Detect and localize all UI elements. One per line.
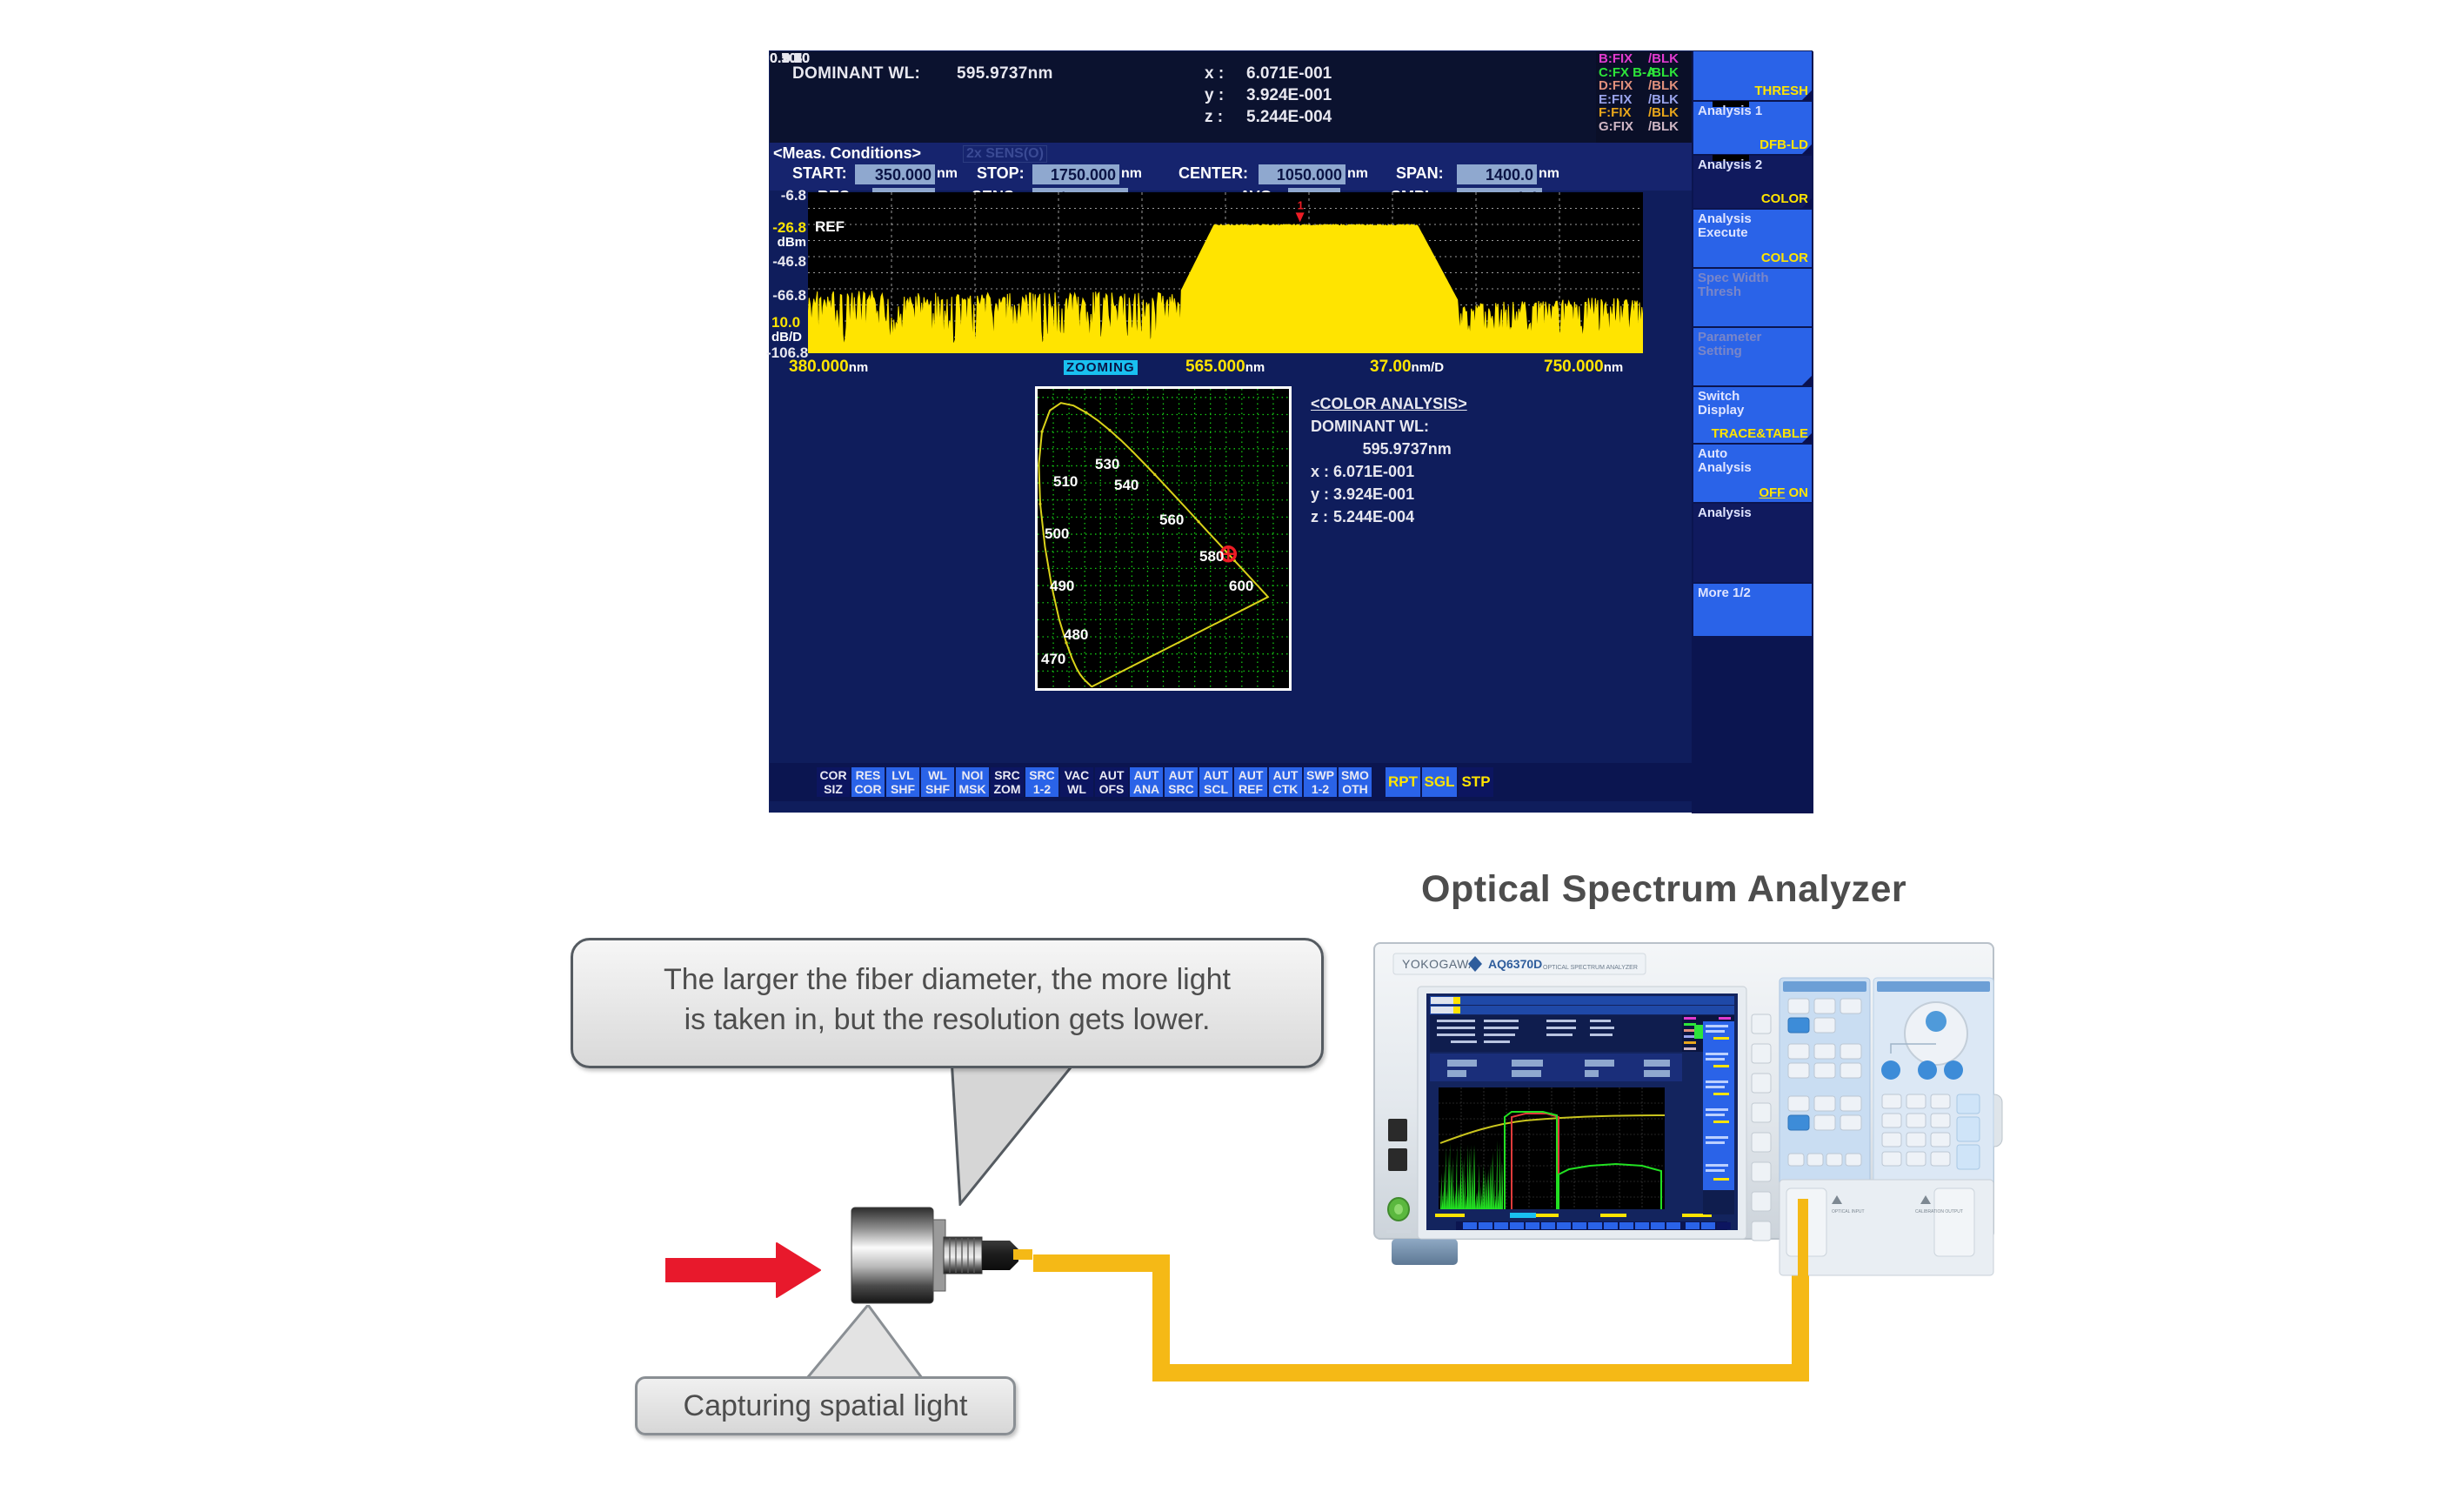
softkey-value: TRACE&TABLE: [1712, 426, 1808, 441]
span-label: SPAN:: [1396, 164, 1444, 183]
wavelength-label: 480: [1064, 626, 1088, 643]
softkey-thresh[interactable]: THRESH: [1693, 51, 1812, 100]
softkey-label: AutoAnalysis: [1698, 447, 1752, 475]
spectral-locus: [1038, 403, 1268, 686]
fn-key-line1: SWP: [1304, 768, 1337, 782]
status-key-rpt[interactable]: RPT: [1386, 767, 1420, 797]
y-axis-label-0: -6.8: [770, 187, 806, 204]
softkey-auto-analysis[interactable]: AutoAnalysisOFF ON: [1693, 445, 1812, 502]
fn-key-src1-2[interactable]: SRC1-2: [1025, 767, 1058, 797]
header-y-key: y :: [1205, 86, 1224, 105]
x-div-value: 37.00: [1370, 358, 1412, 376]
osa-display-area: DOMINANT WL: 595.9737nm x : 6.071E-001 y…: [770, 51, 1692, 813]
svg-text:AQ6370D: AQ6370D: [1488, 957, 1542, 971]
status-key-stp[interactable]: STP: [1459, 767, 1493, 797]
fn-key-line2: WL: [1060, 782, 1093, 796]
center-value[interactable]: 1050.000: [1259, 164, 1346, 184]
span-unit: nm: [1539, 166, 1559, 182]
softkey-value: COLOR: [1761, 251, 1808, 265]
collimator-assembly: [848, 1201, 1057, 1314]
header-dominant-wl-value: 595.9737nm: [957, 64, 1053, 84]
softkey-corner: [1802, 376, 1812, 385]
peak-marker: 1: [1296, 198, 1305, 222]
ca-y-value: 3.924E-001: [1333, 483, 1414, 505]
color-analysis-row-x: x :6.071E-001: [1311, 460, 1467, 483]
stop-value[interactable]: 1750.000: [1032, 164, 1119, 184]
fn-key-line1: AUT: [1269, 768, 1302, 782]
fn-key-line2: SHF: [921, 782, 954, 796]
fn-key-autref[interactable]: AUTREF: [1234, 767, 1267, 797]
x-axis: 380.000nm ZOOMING 565.000nm 37.00nm/D 75…: [770, 358, 1692, 382]
softkey-parameter-setting[interactable]: ParameterSetting: [1693, 328, 1812, 385]
softkey-spec-width-thresh[interactable]: Spec WidthThresh: [1693, 269, 1812, 326]
softkey-corner: [1802, 198, 1812, 208]
trace-blank-state: /BLK: [1648, 79, 1679, 93]
trace-blank-state: /BLK: [1648, 52, 1679, 66]
osa-header: DOMINANT WL: 595.9737nm x : 6.071E-001 y…: [770, 51, 1692, 143]
fn-key-line2: REF: [1234, 782, 1267, 796]
y-axis-label-3: -66.8: [770, 287, 806, 304]
osa-screen-capture: DOMINANT WL: 595.9737nm x : 6.071E-001 y…: [769, 50, 1813, 813]
fn-key-line1: COR: [817, 768, 850, 782]
header-x-key: x :: [1205, 64, 1224, 84]
header-x-value: 6.071E-001: [1246, 64, 1332, 84]
fn-key-line1: AUT: [1165, 768, 1198, 782]
y-axis-label-2: -46.8: [770, 253, 806, 271]
fn-key-rescor[interactable]: RESCOR: [851, 767, 885, 797]
start-label: START:: [792, 164, 847, 183]
wavelength-label: 500: [1045, 525, 1069, 542]
header-z-key: z :: [1205, 108, 1223, 127]
fn-key-line2: 1-2: [1304, 782, 1337, 796]
zooming-indicator: ZOOMING: [1064, 360, 1138, 375]
bubble-line-2: is taken in, but the resolution gets low…: [573, 1000, 1321, 1040]
softkey-analysis-1[interactable]: Analysis 1DFB-LD: [1693, 102, 1812, 154]
trace-name: B:FIX: [1599, 52, 1633, 66]
y-axis-unit: dBm: [770, 235, 806, 250]
trace-name: C:FX B-A: [1599, 66, 1656, 80]
fn-key-autctk[interactable]: AUTCTK: [1269, 767, 1302, 797]
start-value[interactable]: 350.000: [855, 164, 935, 184]
fn-key-smooth[interactable]: SMOOTH: [1339, 767, 1372, 797]
x-stop-unit: nm: [1604, 360, 1624, 375]
wavelength-label: 470: [1041, 651, 1065, 667]
fn-key-line1: LVL: [886, 768, 919, 782]
fn-key-line2: 1-2: [1025, 782, 1058, 796]
fn-key-autofs[interactable]: AUTOFS: [1095, 767, 1128, 797]
fn-key-line2: COR: [851, 782, 885, 796]
fn-key-noimsk[interactable]: NOIMSK: [956, 767, 989, 797]
fn-key-line2: SRC: [1165, 782, 1198, 796]
fn-key-vacwl[interactable]: VACWL: [1060, 767, 1093, 797]
svg-text:OPTICAL INPUT: OPTICAL INPUT: [1832, 1209, 1865, 1214]
x-start-value: 380.000: [789, 358, 849, 376]
incoming-light-arrow: [665, 1231, 857, 1309]
status-key-sgl[interactable]: SGL: [1422, 767, 1457, 797]
color-analysis-domwl-label: DOMINANT WL:: [1311, 415, 1467, 438]
ca-z-value: 5.244E-004: [1333, 505, 1414, 528]
stop-unit: nm: [1121, 166, 1142, 182]
x-axis-div: 37.00nm/D: [1370, 358, 1444, 377]
fn-key-line2: ZOM: [991, 782, 1024, 796]
wavelength-label: 560: [1159, 512, 1184, 528]
ca-x-key: x :: [1311, 460, 1333, 483]
softkey-analysis-2[interactable]: Analysis 2COLOR: [1693, 156, 1812, 208]
fn-key-autscl[interactable]: AUTSCL: [1199, 767, 1232, 797]
softkey-value: COLOR: [1761, 191, 1808, 206]
fn-key-line1: SRC: [1025, 768, 1058, 782]
fn-key-swp1-2[interactable]: SWP1-2: [1304, 767, 1337, 797]
fn-key-line1: SRC: [991, 768, 1024, 782]
speech-bubble-text: The larger the fiber diameter, the more …: [573, 960, 1321, 1040]
softkey-corner: [1802, 433, 1812, 443]
y-div-value: 10.0: [771, 314, 800, 331]
ref-level-marker: REF: [815, 218, 845, 236]
softkey-value: DFB-LD: [1760, 137, 1808, 152]
softkey-analysis-execute[interactable]: AnalysisExecuteCOLOR: [1693, 210, 1812, 267]
trace-list-row: C:FX B-A/BLK: [1596, 66, 1692, 80]
x-start-unit: nm: [849, 360, 869, 375]
fn-key-line1: NOI: [956, 768, 989, 782]
svg-text:YOKOGAWA: YOKOGAWA: [1402, 957, 1477, 971]
spectrum-plot-grid: 1: [808, 192, 1643, 353]
wavelength-label: 490: [1050, 578, 1074, 594]
wavelength-label: 510: [1053, 473, 1078, 490]
x-div-unit: nm/D: [1412, 360, 1445, 375]
fn-key-wlshf[interactable]: WLSHF: [921, 767, 954, 797]
softkey-label: AnalysisExecute: [1698, 212, 1752, 240]
fn-key-line2: SHF: [886, 782, 919, 796]
fn-key-line1: AUT: [1234, 768, 1267, 782]
x-axis-stop: 750.000nm: [1544, 358, 1623, 377]
softkey-label: Analysis 1: [1698, 104, 1762, 118]
y-axis-ref-label: -26.8: [770, 219, 806, 237]
softkey-more-1/2[interactable]: More 1/2: [1693, 584, 1812, 636]
softkey-label: More 1/2: [1698, 586, 1751, 600]
speech-bubble-tail: [948, 1058, 1139, 1206]
softkey-label: Analysis 2: [1698, 158, 1762, 172]
trace-list-row: G:FIX/BLK: [1596, 120, 1692, 134]
spectrum-trace-svg: 1: [808, 192, 1643, 353]
center-label: CENTER:: [1179, 164, 1248, 183]
fn-key-lvlshf[interactable]: LVLSHF: [886, 767, 919, 797]
trace-blank-state: /BLK: [1648, 66, 1679, 80]
fn-key-line2: SIZ: [817, 782, 850, 796]
trace-blank-state: /BLK: [1648, 106, 1679, 120]
x-axis-center: 565.000nm: [1185, 358, 1265, 377]
trace-blank-state: /BLK: [1648, 120, 1679, 134]
wavelength-label: 530: [1095, 456, 1119, 472]
trace-name: F:FIX: [1599, 106, 1632, 120]
trace-list: B:FIX/BLKC:FX B-A/BLKD:FIX/BLKE:FIX/BLKF…: [1596, 51, 1692, 143]
fn-key-line1: WL: [921, 768, 954, 782]
wavelength-label: 540: [1114, 477, 1139, 493]
ca-y-key: y :: [1311, 483, 1333, 505]
fn-key-line1: RES: [851, 768, 885, 782]
fn-key-corsiz[interactable]: CORSIZ: [817, 767, 850, 797]
chromaticity-svg: 470480490500510530540560580600: [1038, 389, 1289, 688]
color-analysis-domwl-value: 595.9737nm: [1311, 438, 1467, 460]
softkey-corner: [1802, 144, 1812, 154]
fn-key-line1: VAC: [1060, 768, 1093, 782]
trace-list-row: F:FIX/BLK: [1596, 106, 1692, 120]
ca-x-value: 6.071E-001: [1333, 460, 1414, 483]
fn-key-srczom[interactable]: SRCZOM: [991, 767, 1024, 797]
softkey-switch-display[interactable]: SwitchDisplayTRACE&TABLE: [1693, 387, 1812, 443]
softkey-corner: [1802, 90, 1812, 100]
caption-text: Capturing spatial light: [638, 1389, 1013, 1423]
cie-x-tick: 0.70: [770, 51, 797, 67]
x-axis-start: 380.000nm: [789, 358, 868, 377]
page-title: Optical Spectrum Analyzer: [1421, 868, 1906, 911]
span-value[interactable]: 1400.0: [1457, 164, 1537, 184]
trace-name: G:FIX: [1599, 120, 1633, 134]
function-key-bar: CORSIZRESCORLVLSHFWLSHFNOIMSKSRCZOMSRC1-…: [770, 763, 1813, 801]
instrument-photo: YOKOGAWA AQ6370D OPTICAL SPECTRUM ANALYZ…: [1372, 938, 2006, 1277]
color-analysis-panel: <COLOR ANALYSIS> DOMINANT WL: 595.9737nm…: [1311, 392, 1467, 528]
softkey-label: Analysis: [1698, 506, 1752, 520]
caption-tail: [783, 1305, 957, 1383]
trace-name: E:FIX: [1599, 93, 1632, 107]
trace-list-row: B:FIX/BLK: [1596, 52, 1692, 66]
trace-list-row: E:FIX/BLK: [1596, 93, 1692, 107]
chromaticity-diagram: 470480490500510530540560580600: [1035, 386, 1292, 691]
x-center-unit: nm: [1245, 360, 1265, 375]
fn-key-line2: CTK: [1269, 782, 1302, 796]
fn-key-line1: AUT: [1199, 768, 1232, 782]
speech-bubble: The larger the fiber diameter, the more …: [571, 938, 1324, 1068]
meas-conditions-panel: <Meas. Conditions> 2x SENS(O) START: 350…: [770, 143, 1692, 191]
center-unit: nm: [1347, 166, 1368, 182]
header-y-value: 3.924E-001: [1246, 86, 1332, 105]
softkey-menu: THRESHAnalysis 1DFB-LDAnalysis 2COLORAna…: [1692, 51, 1813, 813]
x-stop-value: 750.000: [1544, 358, 1604, 376]
ca-z-key: z :: [1311, 505, 1333, 528]
header-dominant-wl-label: DOMINANT WL:: [792, 64, 920, 84]
softkey-value: OFF ON: [1759, 485, 1808, 500]
header-z-value: 5.244E-004: [1246, 108, 1332, 127]
fn-key-autana[interactable]: AUTANA: [1130, 767, 1163, 797]
color-analysis-row-y: y :3.924E-001: [1311, 483, 1467, 505]
stop-label: STOP:: [977, 164, 1025, 183]
fn-key-line1: SMO: [1339, 768, 1372, 782]
chromaticity-plot: 470480490500510530540560580600: [1038, 389, 1289, 688]
wavelength-label: 580: [1199, 548, 1224, 565]
softkey-value: THRESH: [1754, 84, 1808, 98]
trace-blank-state: /BLK: [1648, 93, 1679, 107]
wavelength-label: 600: [1229, 578, 1253, 594]
softkey-analysis[interactable]: Analysis: [1693, 504, 1812, 582]
fn-key-line2: ANA: [1130, 782, 1163, 796]
svg-text:1: 1: [1298, 198, 1304, 211]
y-div-unit: dB/D: [771, 330, 802, 345]
caption-bubble: Capturing spatial light: [635, 1376, 1016, 1435]
fn-key-line2: SCL: [1199, 782, 1232, 796]
meas-conditions-title: <Meas. Conditions>: [773, 144, 921, 163]
svg-text:OPTICAL SPECTRUM ANALYZER: OPTICAL SPECTRUM ANALYZER: [1543, 965, 1638, 971]
fn-key-line2: OTH: [1339, 782, 1372, 796]
start-unit: nm: [937, 166, 958, 182]
x-center-value: 565.000: [1185, 358, 1245, 376]
fn-key-line1: AUT: [1130, 768, 1163, 782]
color-analysis-title: <COLOR ANALYSIS>: [1311, 392, 1467, 415]
fn-key-line1: AUT: [1095, 768, 1128, 782]
sens-mode-tag: 2x SENS(O): [963, 145, 1047, 163]
softkey-label: SwitchDisplay: [1698, 390, 1744, 418]
softkey-label: ParameterSetting: [1698, 331, 1761, 358]
spectrum-graph: 1 -6.8 -26.8 dBm -46.8 -66.8 10.0 dB/D -…: [770, 192, 1692, 358]
trace-name: D:FIX: [1599, 79, 1633, 93]
fn-key-autsrc[interactable]: AUTSRC: [1165, 767, 1198, 797]
fn-key-line2: OFS: [1095, 782, 1128, 796]
softkey-label: Spec WidthThresh: [1698, 271, 1769, 299]
color-analysis-row-z: z :5.244E-004: [1311, 505, 1467, 528]
fn-key-line2: MSK: [956, 782, 989, 796]
trace-list-row: D:FIX/BLK: [1596, 79, 1692, 93]
svg-text:CALIBRATION OUTPUT: CALIBRATION OUTPUT: [1915, 1209, 1963, 1214]
bubble-line-1: The larger the fiber diameter, the more …: [573, 960, 1321, 1000]
